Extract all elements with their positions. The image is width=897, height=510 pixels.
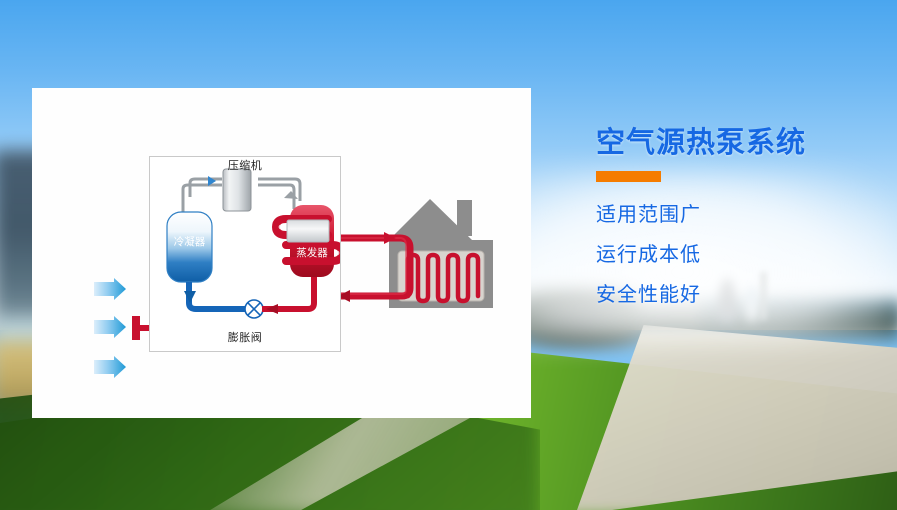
flow-arrow-icon xyxy=(384,232,396,244)
title-underline-bar xyxy=(596,171,661,182)
supply-pipe-highlight xyxy=(332,238,406,294)
refrigeration-cycle-frame: 压缩机 膨胀阀 xyxy=(149,156,341,352)
liquid-line-hot xyxy=(262,277,314,309)
compressor-icon xyxy=(223,169,251,211)
diagram-card: 压缩机 膨胀阀 xyxy=(32,88,531,418)
evaporator-label: 蒸发器 xyxy=(296,246,328,259)
flow-arrow-icon xyxy=(284,191,298,199)
liquid-line-cold xyxy=(189,282,246,309)
cycle-schematic: 冷凝器 蒸发器 xyxy=(150,157,340,351)
page-title: 空气源热泵系统 xyxy=(596,126,886,159)
feature-list: 适用范围广 运行成本低 安全性能好 xyxy=(596,204,886,304)
condenser-label: 冷凝器 xyxy=(174,235,206,248)
expansion-valve-label: 膨胀阀 xyxy=(150,329,340,345)
heat-exchanger-block xyxy=(287,220,329,242)
list-item: 适用范围广 xyxy=(596,204,886,224)
vapour-pipe-left xyxy=(190,179,222,197)
coil-joint xyxy=(279,225,284,230)
list-item: 运行成本低 xyxy=(596,244,886,264)
text-panel: 空气源热泵系统 适用范围广 运行成本低 安全性能好 xyxy=(596,126,886,304)
supply-pipe xyxy=(332,238,410,296)
list-item: 安全性能好 xyxy=(596,284,886,304)
flow-arrow-icon xyxy=(184,291,196,303)
compressor-label: 压缩机 xyxy=(150,157,340,173)
flow-arrow-icon xyxy=(266,304,278,314)
coil-joint xyxy=(335,251,340,256)
slide-canvas: 压缩机 膨胀阀 xyxy=(0,0,897,510)
